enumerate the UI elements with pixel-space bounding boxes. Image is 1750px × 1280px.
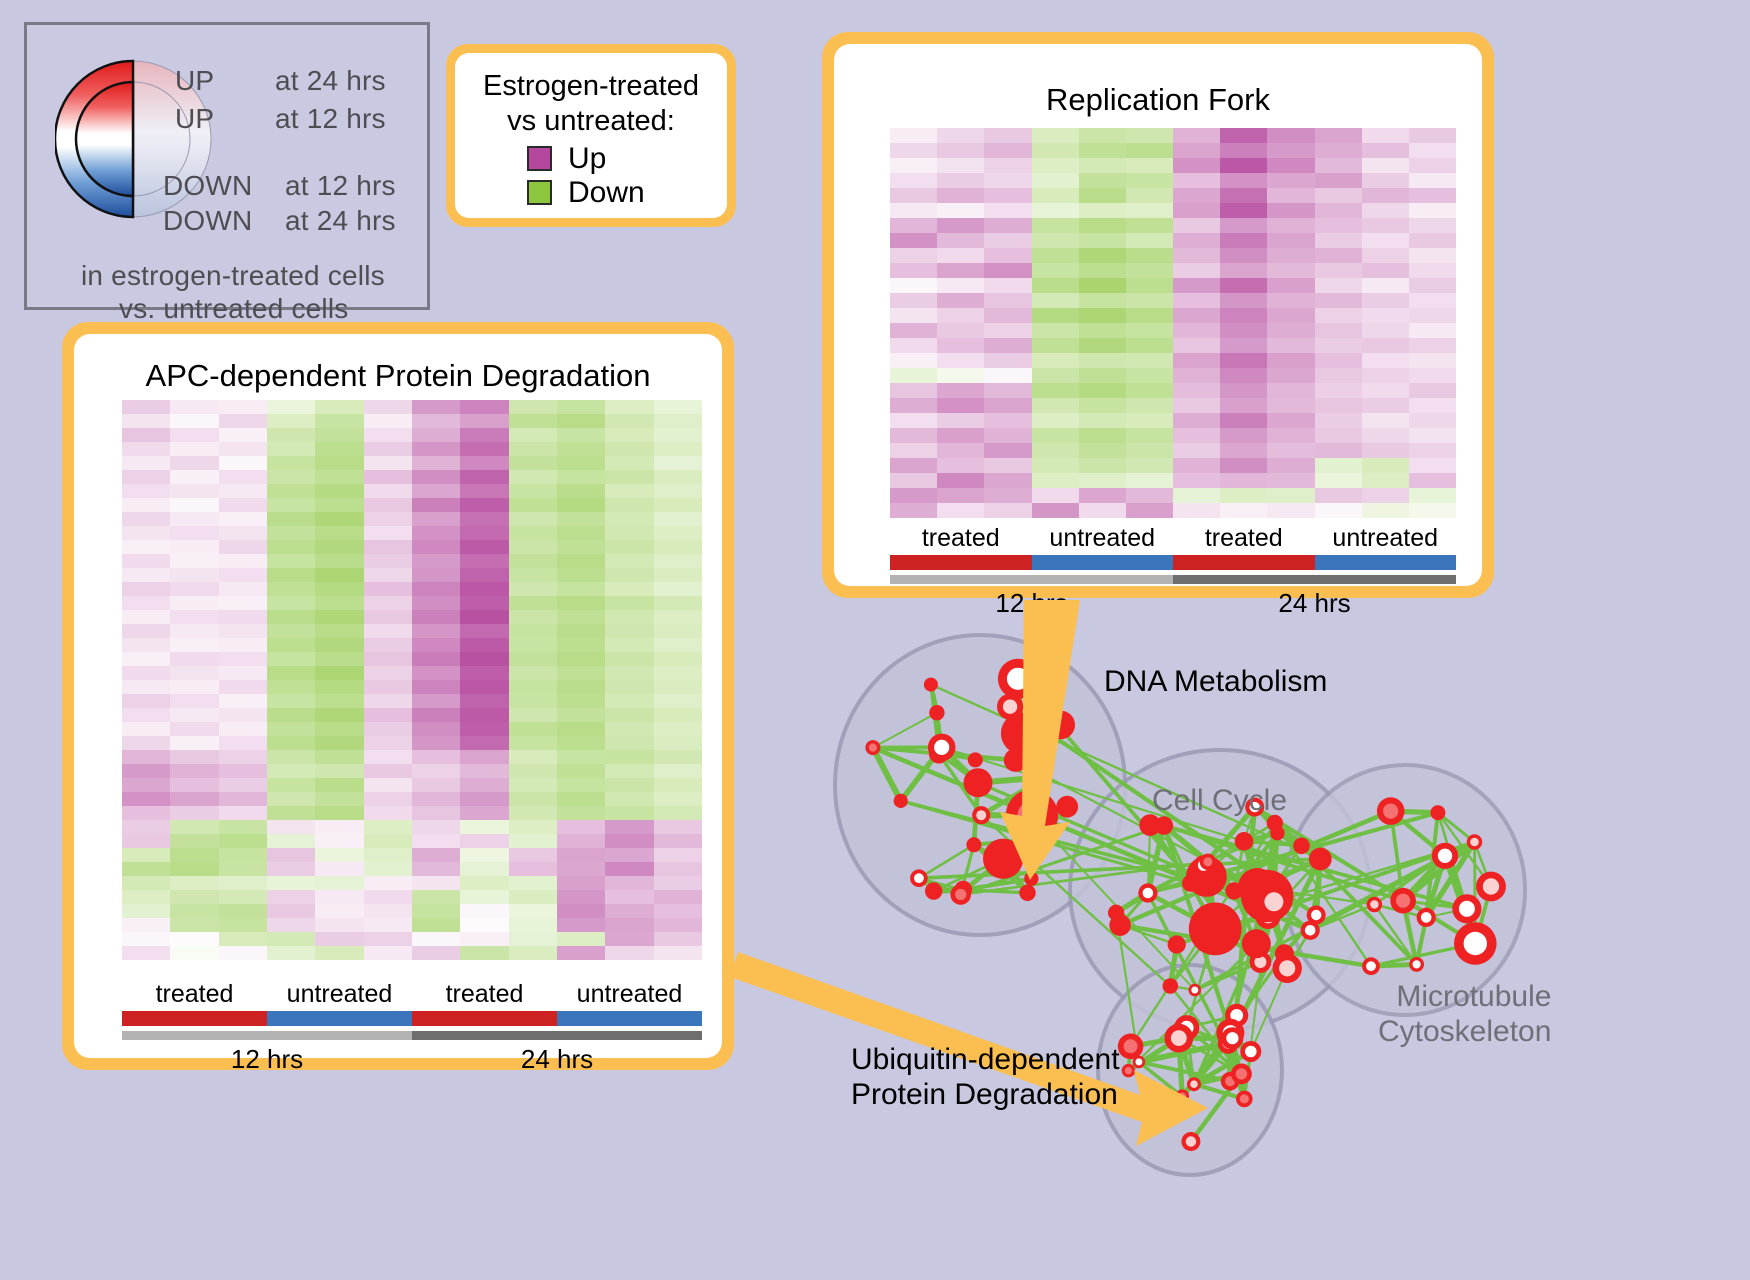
- heatmap-cell: [557, 442, 605, 456]
- heatmap-cell: [937, 218, 984, 233]
- heatmap-cell: [1362, 503, 1409, 518]
- network-node: [1390, 888, 1416, 914]
- heatmap-row: [122, 904, 702, 918]
- heatmap-cell: [1362, 353, 1409, 368]
- heatmap-cell: [1126, 383, 1173, 398]
- heatmap-cell: [364, 456, 412, 470]
- ubiquitin-line1: Ubiquitin-dependent: [851, 1042, 1120, 1077]
- heatmap-cell: [1315, 233, 1362, 248]
- heatmap-cell: [364, 946, 412, 960]
- heatmap-cell: [170, 638, 218, 652]
- heatmap-cell: [557, 862, 605, 876]
- heatmap-cell: [412, 456, 460, 470]
- heatmap-row: [122, 554, 702, 568]
- heatmap-cell: [364, 554, 412, 568]
- heatmap-cell: [460, 456, 508, 470]
- heatmap-cell: [412, 414, 460, 428]
- heatmap-cell: [1220, 503, 1267, 518]
- heatmap-cell: [170, 512, 218, 526]
- updown-legend-box: Estrogen-treated vs untreated: Up Down: [446, 44, 736, 227]
- heatmap-cell: [1126, 248, 1173, 263]
- heatmap-cell: [315, 610, 363, 624]
- heatmap-cell: [460, 484, 508, 498]
- network-node: [1273, 954, 1302, 983]
- heatmap-cell: [1267, 218, 1314, 233]
- heatmap-cell: [1362, 383, 1409, 398]
- heatmap-cell: [412, 512, 460, 526]
- heatmap-cell: [170, 596, 218, 610]
- heatmap-cell: [557, 610, 605, 624]
- heatmap-cell: [267, 862, 315, 876]
- heatmap-cell: [170, 680, 218, 694]
- heatmap-cell: [170, 498, 218, 512]
- heatmap-row: [890, 308, 1456, 323]
- heatmap-row: [890, 278, 1456, 293]
- heatmap-cell: [557, 540, 605, 554]
- group-bar-treated-24: [1173, 555, 1315, 570]
- heatmap-cell: [1173, 278, 1220, 293]
- heatmap-row: [122, 680, 702, 694]
- heatmap-cell: [219, 652, 267, 666]
- heatmap-cell: [267, 904, 315, 918]
- heatmap-cell: [1032, 278, 1079, 293]
- heatmap-cell: [122, 428, 170, 442]
- heatmap-cell: [170, 428, 218, 442]
- group-label-treated-24: treated: [1173, 524, 1315, 553]
- heatmap-cell: [364, 904, 412, 918]
- heatmap-cell: [557, 596, 605, 610]
- heatmap-row: [122, 512, 702, 526]
- heatmap-cell: [412, 750, 460, 764]
- panel-apc-degradation: APC-dependent Protein Degradation treate…: [62, 322, 734, 1070]
- heatmap-cell: [890, 278, 937, 293]
- heatmap-cell: [267, 512, 315, 526]
- heatmap-cell: [509, 512, 557, 526]
- heatmap-cell: [654, 638, 702, 652]
- network-node: [1377, 797, 1405, 825]
- heatmap-cell: [412, 596, 460, 610]
- heatmap-cell: [890, 413, 937, 428]
- heatmap-row: [122, 778, 702, 792]
- heatmap-cell: [984, 398, 1031, 413]
- heatmap-cell: [219, 526, 267, 540]
- heatmap-cell: [1126, 293, 1173, 308]
- heatmap-row: [122, 414, 702, 428]
- heatmap-cell: [170, 610, 218, 624]
- network-node: [1430, 805, 1445, 820]
- heatmap-cell: [1409, 233, 1456, 248]
- heatmap-cell: [937, 398, 984, 413]
- heatmap-cell: [557, 512, 605, 526]
- network-node: [1189, 903, 1242, 956]
- heatmap-cell: [557, 484, 605, 498]
- heatmap-cell: [654, 848, 702, 862]
- heatmap-cell: [219, 624, 267, 638]
- heatmap-cell: [1362, 398, 1409, 413]
- heatmap-cell: [1079, 398, 1126, 413]
- heatmap-cell: [1267, 353, 1314, 368]
- heatmap-cell: [219, 722, 267, 736]
- heatmap-cell: [315, 932, 363, 946]
- heatmap-cell: [1220, 443, 1267, 458]
- legend-footnote-line1: in estrogen-treated cells: [81, 260, 385, 292]
- heatmap-cell: [509, 442, 557, 456]
- heatmap-cell: [460, 582, 508, 596]
- heatmap-cell: [890, 473, 937, 488]
- heatmap-cell: [984, 383, 1031, 398]
- heatmap-cell: [557, 876, 605, 890]
- heatmap-cell: [984, 308, 1031, 323]
- heatmap-cell: [1079, 233, 1126, 248]
- heatmap-cell: [364, 820, 412, 834]
- heatmap-cell: [654, 456, 702, 470]
- group-bar-untreated-12: [267, 1011, 412, 1026]
- heatmap-row: [890, 338, 1456, 353]
- heatmap-cell: [1032, 413, 1079, 428]
- heatmap-cell: [654, 484, 702, 498]
- heatmap-cell: [364, 400, 412, 414]
- heatmap-cell: [984, 158, 1031, 173]
- heatmap-cell: [557, 624, 605, 638]
- heatmap-cell: [605, 848, 653, 862]
- heatmap-cell: [219, 456, 267, 470]
- heatmap-cell: [1079, 428, 1126, 443]
- heatmap-cell: [122, 806, 170, 820]
- heatmap-cell: [315, 414, 363, 428]
- heatmap-cell: [1032, 353, 1079, 368]
- heatmap-cell: [654, 652, 702, 666]
- heatmap-cell: [170, 582, 218, 596]
- heatmap-cell: [315, 848, 363, 862]
- heatmap-cell: [170, 918, 218, 932]
- heatmap-cell: [219, 610, 267, 624]
- heatmap-cell: [605, 904, 653, 918]
- network-node: [1242, 929, 1271, 958]
- time-label-12hrs: 12 hrs: [122, 1044, 412, 1075]
- heatmap-cell: [937, 458, 984, 473]
- heatmap-cell: [509, 764, 557, 778]
- heatmap-row: [122, 484, 702, 498]
- heatmap-cell: [509, 694, 557, 708]
- heatmap-cell: [1173, 128, 1220, 143]
- heatmap-cell: [1267, 383, 1314, 398]
- heatmap-cell: [1409, 203, 1456, 218]
- heatmap-cell: [219, 414, 267, 428]
- heatmap-cell: [122, 442, 170, 456]
- heatmap-cell: [509, 792, 557, 806]
- heatmap-cell: [557, 414, 605, 428]
- heatmap-cell: [315, 820, 363, 834]
- microtubule-line1: Microtubule: [1378, 979, 1551, 1014]
- network-node: [1175, 1089, 1189, 1103]
- heatmap-cell: [605, 400, 653, 414]
- heatmap-row: [122, 806, 702, 820]
- heatmap-cell: [1032, 143, 1079, 158]
- heatmap-row: [890, 398, 1456, 413]
- heatmap-cell: [219, 582, 267, 596]
- heatmap-cell: [937, 128, 984, 143]
- network-node: [1221, 1027, 1243, 1049]
- heatmap-row: [122, 932, 702, 946]
- heatmap-cell: [1126, 173, 1173, 188]
- heatmap-cell: [937, 443, 984, 458]
- heatmap-cell: [412, 946, 460, 960]
- heatmap-cell: [937, 158, 984, 173]
- heatmap-cell: [122, 540, 170, 554]
- heatmap-cell: [1079, 473, 1126, 488]
- heatmap-cell: [267, 918, 315, 932]
- heatmap-cell: [122, 792, 170, 806]
- heatmap-cell: [984, 353, 1031, 368]
- heatmap-cell: [364, 722, 412, 736]
- microtubule-line2: Cytoskeleton: [1378, 1014, 1551, 1049]
- heatmap-cell: [654, 708, 702, 722]
- heatmap-cell: [412, 848, 460, 862]
- heatmap-cell: [364, 526, 412, 540]
- heatmap-cell: [509, 582, 557, 596]
- axis-apc-degradation: treated untreated treated untreated 12 h: [122, 980, 702, 1075]
- heatmap-cell: [1409, 323, 1456, 338]
- network-node: [1240, 1041, 1261, 1062]
- heatmap-cell: [1267, 188, 1314, 203]
- heatmap-cell: [1362, 488, 1409, 503]
- heatmap-cell: [557, 708, 605, 722]
- group-bar-untreated-12: [1032, 555, 1174, 570]
- heatmap-cell: [1032, 293, 1079, 308]
- heatmap-row: [122, 470, 702, 484]
- group-label-treated-12: treated: [890, 524, 1032, 553]
- heatmap-cell: [509, 624, 557, 638]
- heatmap-cell: [1079, 203, 1126, 218]
- heatmap-cell: [1126, 413, 1173, 428]
- heatmap-cell: [412, 526, 460, 540]
- network-node: [1452, 894, 1481, 923]
- heatmap-cell: [460, 750, 508, 764]
- heatmap-cell: [1079, 218, 1126, 233]
- heatmap-cell: [170, 568, 218, 582]
- heatmap-cell: [557, 652, 605, 666]
- heatmap-cell: [557, 904, 605, 918]
- heatmap-cell: [122, 946, 170, 960]
- heatmap-cell: [605, 680, 653, 694]
- heatmap-cell: [1315, 503, 1362, 518]
- heatmap-cell: [1267, 158, 1314, 173]
- heatmap-cell: [1315, 188, 1362, 203]
- heatmap-cell: [267, 834, 315, 848]
- heatmap-cell: [1079, 158, 1126, 173]
- heatmap-row: [890, 263, 1456, 278]
- heatmap-cell: [654, 834, 702, 848]
- heatmap-cell: [1362, 368, 1409, 383]
- heatmap-cell: [219, 932, 267, 946]
- heatmap-row: [890, 233, 1456, 248]
- heatmap-cell: [1220, 248, 1267, 263]
- heatmap-row: [122, 400, 702, 414]
- heatmap-cell: [1173, 338, 1220, 353]
- network-node: [964, 768, 993, 797]
- heatmap-row: [122, 568, 702, 582]
- heatmap-cell: [460, 610, 508, 624]
- heatmap-cell: [1220, 173, 1267, 188]
- heatmap-cell: [219, 806, 267, 820]
- heatmap-cell: [557, 694, 605, 708]
- heatmap-cell: [219, 680, 267, 694]
- heatmap-cell: [1267, 428, 1314, 443]
- heatmap-row: [890, 218, 1456, 233]
- heatmap-cell: [1362, 203, 1409, 218]
- heatmap-row: [122, 638, 702, 652]
- group-label-untreated-12: untreated: [267, 980, 412, 1009]
- heatmap-cell: [605, 428, 653, 442]
- heatmap-cell: [1267, 398, 1314, 413]
- heatmap-cell: [984, 203, 1031, 218]
- network-node: [950, 884, 971, 905]
- heatmap-cell: [1032, 128, 1079, 143]
- heatmap-cell: [1079, 338, 1126, 353]
- heatmap-cell: [937, 413, 984, 428]
- heatmap-cell: [170, 456, 218, 470]
- heatmap-cell: [1409, 293, 1456, 308]
- heatmap-cell: [1079, 143, 1126, 158]
- heatmap-cell: [557, 778, 605, 792]
- heatmap-cell: [412, 582, 460, 596]
- heatmap-cell: [460, 778, 508, 792]
- heatmap-cell: [412, 764, 460, 778]
- heatmap-cell: [1079, 293, 1126, 308]
- heatmap-cell: [1173, 173, 1220, 188]
- heatmap-cell: [364, 484, 412, 498]
- heatmap-row: [890, 293, 1456, 308]
- group-label-untreated-12: untreated: [1032, 524, 1174, 553]
- heatmap-cell: [1126, 278, 1173, 293]
- time-bars-replication: [890, 575, 1456, 584]
- heatmap-cell: [605, 820, 653, 834]
- heatmap-cell: [654, 694, 702, 708]
- heatmap-cell: [122, 554, 170, 568]
- network-node: [924, 678, 938, 692]
- heatmap-cell: [364, 862, 412, 876]
- heatmap-cell: [1315, 278, 1362, 293]
- heatmap-cell: [122, 862, 170, 876]
- heatmap-cell: [1409, 188, 1456, 203]
- heatmap-cell: [412, 498, 460, 512]
- heatmap-cell: [1220, 188, 1267, 203]
- heatmap-cell: [890, 158, 937, 173]
- group-labels-apc: treated untreated treated untreated: [122, 980, 702, 1009]
- heatmap-cell: [267, 428, 315, 442]
- heatmap-cell: [315, 540, 363, 554]
- updown-legend-header-line1: Estrogen-treated: [455, 69, 727, 104]
- heatmap-cell: [1173, 218, 1220, 233]
- heatmap-cell: [122, 820, 170, 834]
- heatmap-cell: [1267, 488, 1314, 503]
- heatmap-row: [890, 158, 1456, 173]
- heatmap-cell: [315, 764, 363, 778]
- heatmap-cell: [460, 624, 508, 638]
- heatmap-cell: [1126, 443, 1173, 458]
- heatmap-cell: [364, 708, 412, 722]
- heatmap-cell: [1173, 503, 1220, 518]
- heatmap-cell: [557, 792, 605, 806]
- heatmap-cell: [122, 484, 170, 498]
- time-bar-12hrs: [122, 1031, 412, 1040]
- heatmap-cell: [219, 498, 267, 512]
- heatmap-cell: [267, 820, 315, 834]
- heatmap-row: [122, 428, 702, 442]
- heatmap-cell: [890, 173, 937, 188]
- heatmap-cell: [1267, 413, 1314, 428]
- heatmap-row: [122, 526, 702, 540]
- heatmap-cell: [170, 806, 218, 820]
- heatmap-cell: [1362, 188, 1409, 203]
- heatmap-cell: [605, 540, 653, 554]
- heatmap-cell: [654, 526, 702, 540]
- heatmap-cell: [219, 666, 267, 680]
- heatmap-cell: [1267, 458, 1314, 473]
- heatmap-cell: [267, 526, 315, 540]
- heatmap-cell: [1126, 218, 1173, 233]
- heatmap-cell: [219, 400, 267, 414]
- heatmap-cell: [937, 278, 984, 293]
- heatmap-cell: [605, 834, 653, 848]
- heatmap-row: [122, 694, 702, 708]
- heatmap-cell: [267, 694, 315, 708]
- heatmap-cell: [890, 293, 937, 308]
- legend-up-24-time: at 24 hrs: [275, 65, 386, 97]
- group-bar-untreated-24: [557, 1011, 702, 1026]
- heatmap-cell: [1173, 293, 1220, 308]
- heatmap-cell: [1079, 128, 1126, 143]
- group-label-treated-12: treated: [122, 980, 267, 1009]
- panel-title-apc-degradation: APC-dependent Protein Degradation: [74, 358, 722, 394]
- network-node: [1019, 885, 1035, 901]
- heatmap-cell: [1079, 443, 1126, 458]
- heatmap-cell: [937, 338, 984, 353]
- heatmap-cell: [1315, 158, 1362, 173]
- heatmap-cell: [364, 498, 412, 512]
- heatmap-row: [122, 820, 702, 834]
- heatmap-cell: [1079, 248, 1126, 263]
- heatmap-cell: [122, 932, 170, 946]
- heatmap-cell: [1315, 338, 1362, 353]
- heatmap-cell: [1126, 368, 1173, 383]
- heatmap-cell: [412, 540, 460, 554]
- heatmap-cell: [1315, 263, 1362, 278]
- heatmap-cell: [315, 638, 363, 652]
- heatmap-cell: [1362, 323, 1409, 338]
- network-node: [894, 794, 908, 808]
- heatmap-cell: [605, 526, 653, 540]
- heatmap-cell: [1409, 278, 1456, 293]
- heatmap-cell: [654, 722, 702, 736]
- heatmap-cell: [1126, 458, 1173, 473]
- heatmap-cell: [267, 890, 315, 904]
- heatmap-row: [122, 722, 702, 736]
- heatmap-cell: [654, 932, 702, 946]
- heatmap-row: [122, 708, 702, 722]
- heatmap-row: [890, 173, 1456, 188]
- heatmap-cell: [1267, 128, 1314, 143]
- network-node: [1001, 712, 1043, 754]
- network-node: [1409, 957, 1424, 972]
- heatmap-row: [122, 848, 702, 862]
- heatmap-cell: [122, 400, 170, 414]
- group-bar-treated-12: [890, 555, 1032, 570]
- heatmap-row: [122, 456, 702, 470]
- heatmap-cell: [315, 596, 363, 610]
- heatmap-cell: [557, 848, 605, 862]
- heatmap-cell: [267, 498, 315, 512]
